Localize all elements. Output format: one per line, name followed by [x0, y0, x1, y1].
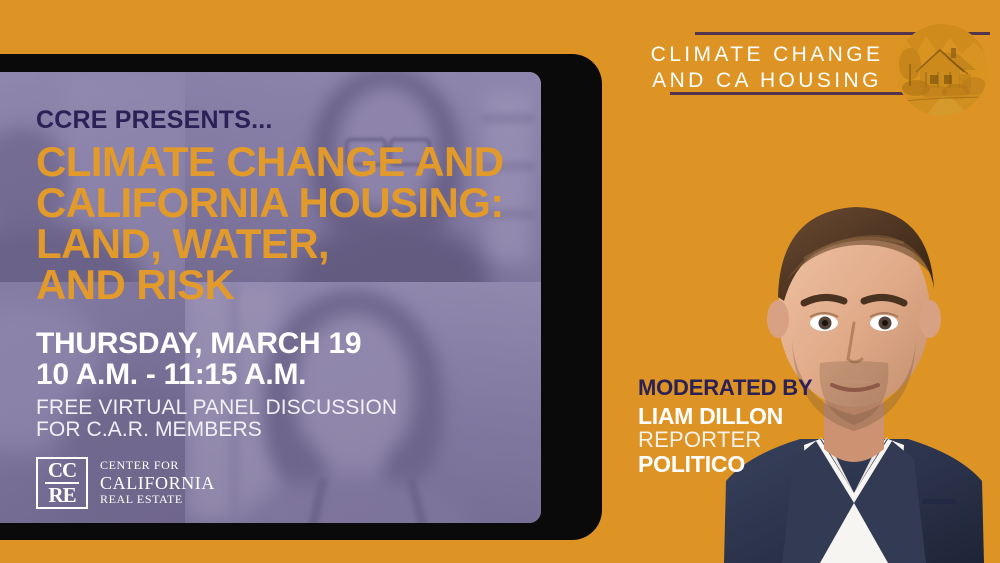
- tablet-device: CCRE PRESENTS... CLIMATE CHANGE AND CALI…: [0, 54, 602, 540]
- ccre-word-line-3: REAL ESTATE: [100, 493, 215, 506]
- moderator-name: LIAM DILLON: [638, 404, 812, 428]
- presents-eyebrow: CCRE PRESENTS...: [36, 108, 506, 133]
- event-time: 10 A.M. - 11:15 A.M.: [36, 359, 506, 391]
- house-illustration-badge-icon: [896, 24, 988, 116]
- moderator-role: REPORTER: [638, 428, 812, 451]
- headline-line-4: AND RISK: [36, 264, 506, 305]
- event-promo-poster: CCRE PRESENTS... CLIMATE CHANGE AND CALI…: [0, 0, 1000, 563]
- ccre-logo-mark: CC RE: [36, 457, 88, 509]
- header-title-line-2: AND CA HOUSING: [642, 68, 892, 94]
- ccre-logo: CC RE CENTER FOR CALIFORNIA REAL ESTATE: [36, 457, 215, 509]
- headline-line-3: LAND, WATER,: [36, 223, 506, 264]
- subnote-line-1: FREE VIRTUAL PANEL DISCUSSION: [36, 397, 506, 419]
- moderator-block: MODERATED BY LIAM DILLON REPORTER POLITI…: [638, 376, 812, 476]
- ccre-word-line-2: CALIFORNIA: [100, 473, 215, 493]
- moderator-portrait: [708, 163, 1000, 563]
- event-date: THURSDAY, MARCH 19: [36, 328, 506, 360]
- event-datetime: THURSDAY, MARCH 19 10 A.M. - 11:15 A.M.: [36, 328, 506, 392]
- tablet-screen: CCRE PRESENTS... CLIMATE CHANGE AND CALI…: [0, 72, 541, 523]
- event-subnote: FREE VIRTUAL PANEL DISCUSSION FOR C.A.R.…: [36, 397, 506, 441]
- screen-copy-block: CCRE PRESENTS... CLIMATE CHANGE AND CALI…: [36, 108, 506, 441]
- ccre-logo-wordmark: CENTER FOR CALIFORNIA REAL ESTATE: [100, 459, 215, 506]
- moderated-by-label: MODERATED BY: [638, 376, 812, 399]
- header-title-line-1: CLIMATE CHANGE: [642, 42, 892, 68]
- headline-line-1: CLIMATE CHANGE AND: [36, 141, 506, 182]
- event-headline: CLIMATE CHANGE AND CALIFORNIA HOUSING: L…: [36, 141, 506, 306]
- ccre-word-line-1: CENTER FOR: [100, 459, 215, 472]
- poster-header: CLIMATE CHANGE AND CA HOUSING: [630, 20, 990, 120]
- headline-line-2: CALIFORNIA HOUSING:: [36, 182, 506, 223]
- subnote-line-2: FOR C.A.R. MEMBERS: [36, 419, 506, 441]
- ccre-mark-bottom: RE: [48, 485, 75, 506]
- ccre-mark-top: CC: [48, 460, 76, 481]
- moderator-organization: POLITICO: [638, 452, 812, 476]
- header-title: CLIMATE CHANGE AND CA HOUSING: [642, 42, 892, 95]
